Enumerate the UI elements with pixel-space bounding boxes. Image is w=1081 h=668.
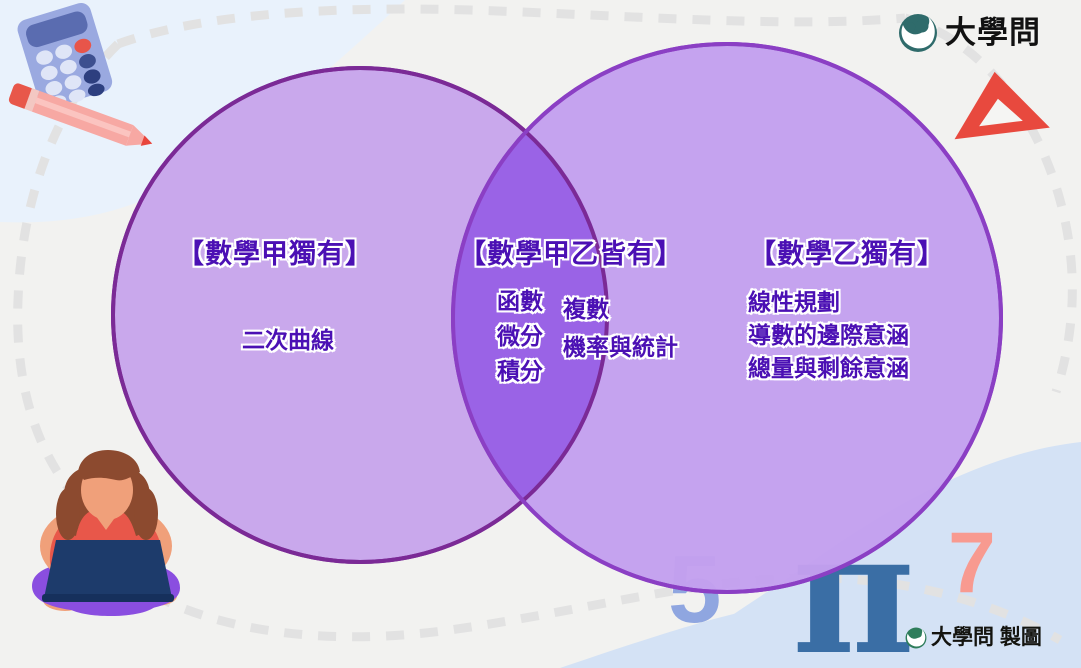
brand-logo[interactable]: 大學問 [898, 13, 1041, 53]
watermark-text: 大學問 製圖 [931, 627, 1042, 649]
venn-diagram [0, 0, 1081, 668]
daxuewen-logo-icon [898, 13, 938, 53]
infographic-canvas: 5 7 π 【數學甲獨有】 二次曲線 【數學甲乙皆有】 函數 微分 積分 複數 … [0, 0, 1081, 668]
brand-name: 大學問 [945, 13, 1041, 53]
daxuewen-logo-icon [905, 627, 927, 649]
watermark: 大學問 製圖 [905, 627, 1042, 649]
